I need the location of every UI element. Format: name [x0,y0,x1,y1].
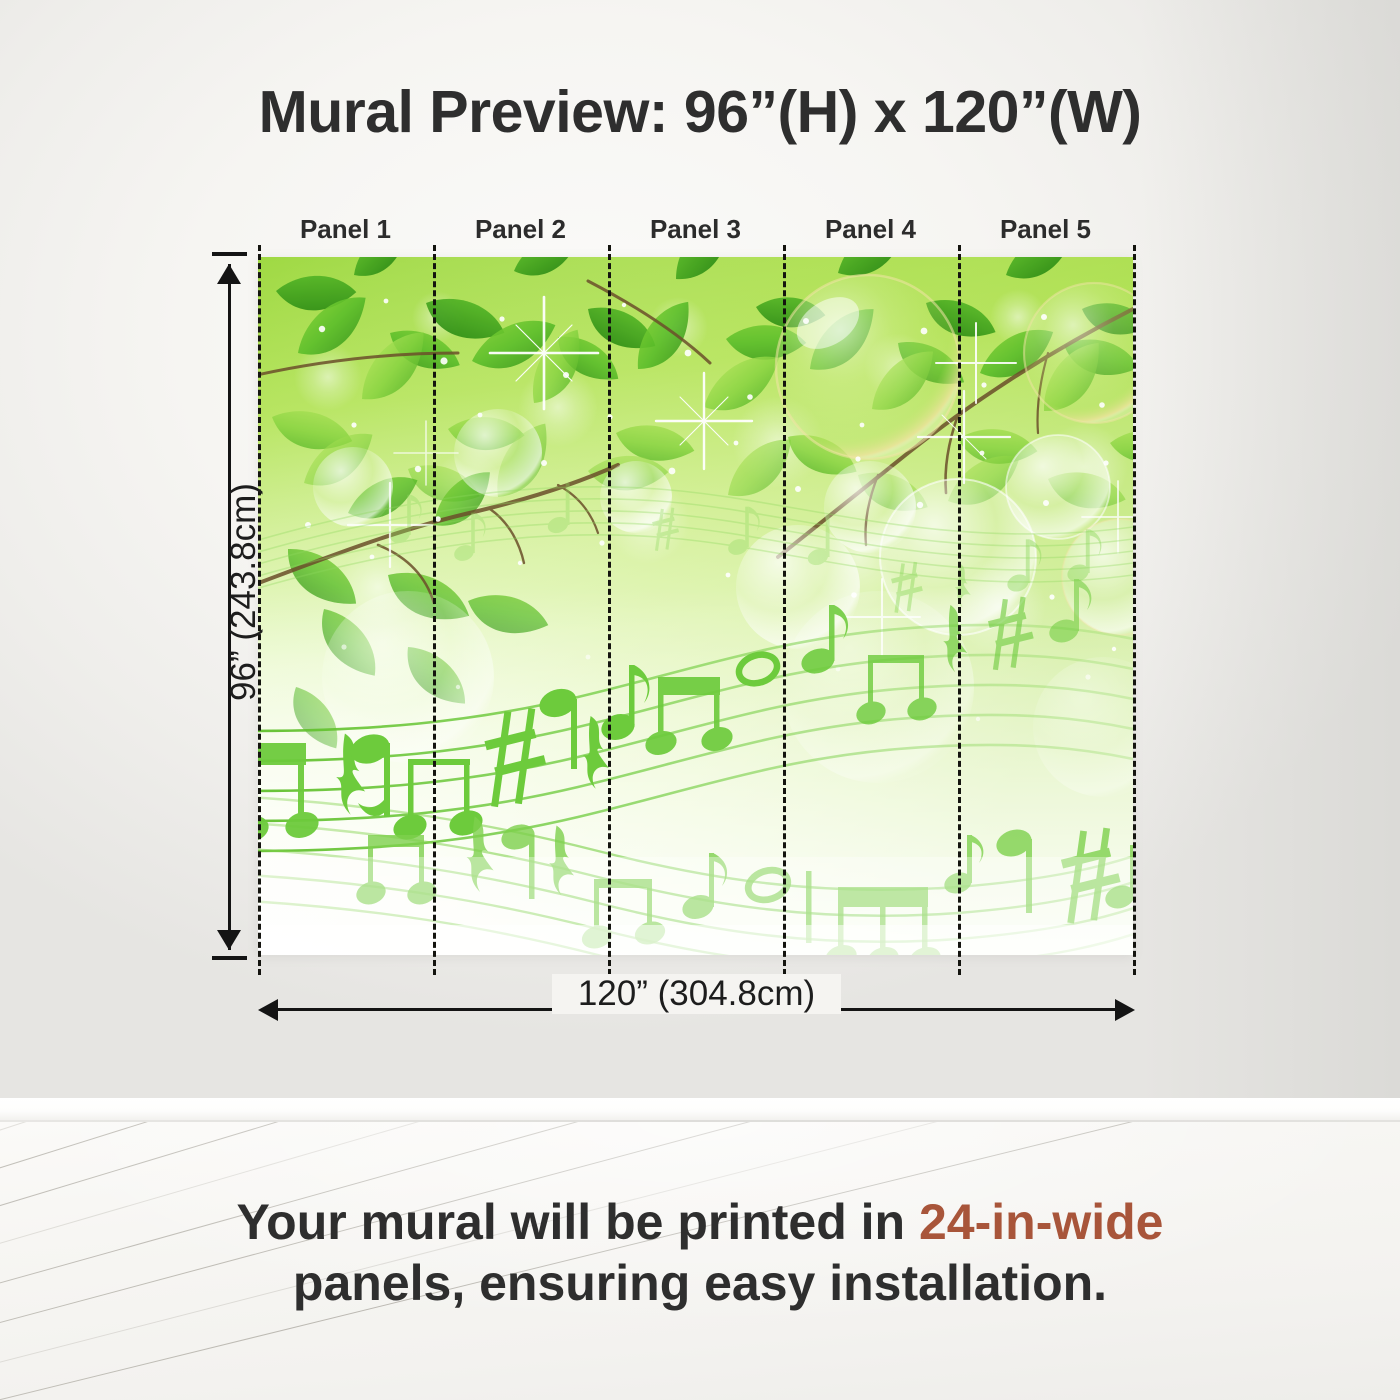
caption-accent: 24-in-wide [919,1194,1163,1250]
height-tick-top [212,252,247,256]
panel-label-3: Panel 3 [608,214,783,245]
baseboard [0,1098,1400,1122]
height-arrow-down [217,930,241,950]
panel-label-4: Panel 4 [783,214,958,245]
height-arrow-up [217,264,241,284]
width-dimension: 120” (304.8cm) [258,990,1135,1030]
caption-line-2: panels, ensuring easy installation. [0,1253,1400,1314]
mural-artwork [258,257,1133,955]
panel-divider [433,245,436,975]
panel-divider [608,245,611,975]
page-title: Mural Preview: 96”(H) x 120”(W) [0,78,1400,146]
height-dimension: 96” (243.8cm) [206,252,252,962]
width-label-container: 120” (304.8cm) [258,974,1135,1014]
caption-text-before: Your mural will be printed in [237,1194,919,1250]
caption-line-1: Your mural will be printed in 24-in-wide [0,1192,1400,1253]
panel-divider [958,245,961,975]
width-label: 120” (304.8cm) [552,974,841,1014]
caption: Your mural will be printed in 24-in-wide… [0,1192,1400,1314]
height-label: 96” (243.8cm) [224,422,264,762]
height-tick-bottom [212,956,247,960]
panel-label-5: Panel 5 [958,214,1133,245]
panel-divider [1133,245,1136,975]
mural-preview [258,257,1133,955]
wall-shading [1140,0,1400,1122]
panel-divider [783,245,786,975]
panel-label-2: Panel 2 [433,214,608,245]
panel-label-1: Panel 1 [258,214,433,245]
